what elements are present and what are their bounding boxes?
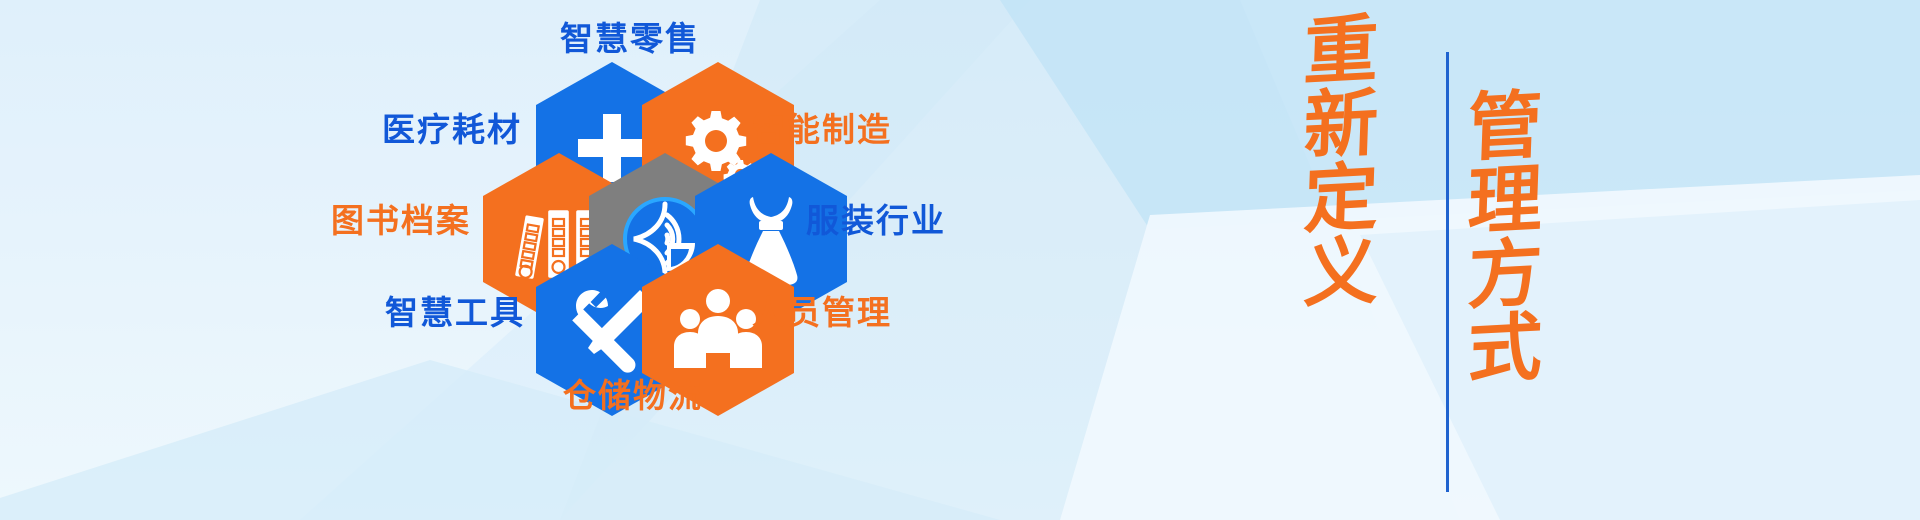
people-group-icon: [672, 288, 764, 372]
label-bottom-logistics: 仓储物流: [563, 369, 703, 417]
label-top-retail: 智慧零售: [560, 12, 700, 60]
banner-canvas: 智慧零售 医疗耗材 智能制造 图书档案 服装行业 智慧工具 人员管理 仓储物流 …: [0, 0, 1920, 520]
slogan-char: 义: [1303, 234, 1380, 312]
slogan-char: 式: [1467, 310, 1544, 388]
label-manufacture: 智能制造: [752, 103, 892, 151]
label-archive: 图书档案: [331, 194, 471, 242]
slogan-divider: [1446, 52, 1449, 492]
slogan-left-column: 重 新 定 义: [1304, 14, 1378, 310]
slogan-char: 重: [1303, 12, 1380, 90]
label-tools: 智慧工具: [385, 286, 525, 334]
slogan-char: 理: [1467, 162, 1544, 240]
slogan-right-column: 管 理 方 式: [1468, 90, 1542, 386]
slogan-char: 方: [1467, 236, 1544, 314]
slogan-char: 定: [1303, 160, 1380, 238]
label-apparel: 服装行业: [806, 194, 946, 242]
slogan-block: 重 新 定 义 管 理 方 式: [1280, 0, 1740, 520]
slogan-char: 管: [1467, 88, 1544, 166]
slogan-char: 新: [1303, 86, 1380, 164]
label-people: 人员管理: [752, 286, 892, 334]
label-medical: 医疗耗材: [382, 103, 522, 151]
